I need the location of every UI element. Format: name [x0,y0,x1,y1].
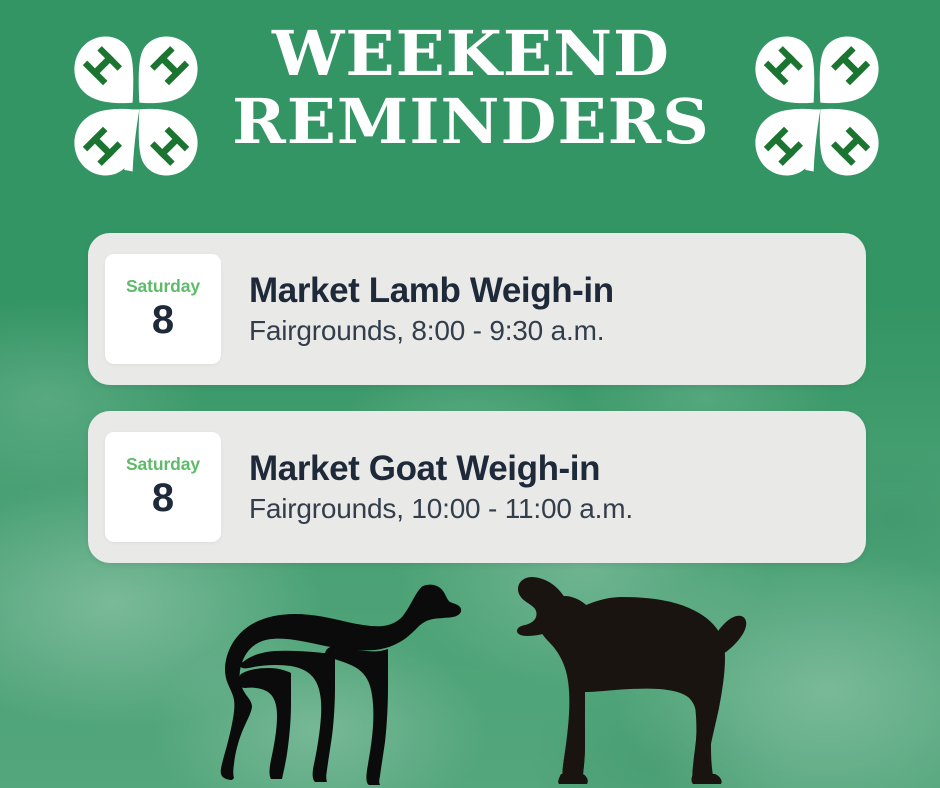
page-title: WEEKEND REMINDERS [228,20,714,156]
4-h-clover-logo-right [733,22,901,190]
4-h-clover-logo-left [52,22,220,190]
page-title-line-1: WEEKEND [218,20,723,88]
poster-header: WEEKEND REMINDERS [0,0,940,210]
event-text-block: Market Lamb Weigh-in Fairgrounds, 8:00 -… [221,270,866,349]
event-card[interactable]: Saturday 8 Market Goat Weigh-in Fairgrou… [88,411,866,563]
goat-silhouette [507,562,785,786]
event-card[interactable]: Saturday 8 Market Lamb Weigh-in Fairgrou… [88,233,866,385]
animal-silhouettes [0,556,940,788]
lamb-silhouette [215,574,463,786]
event-weekday: Saturday [126,454,200,474]
page-title-line-2: REMINDERS [218,88,723,156]
event-detail: Fairgrounds, 8:00 - 9:30 a.m. [249,313,846,349]
weekend-reminders-poster: WEEKEND REMINDERS [0,0,940,788]
event-title: Market Lamb Weigh-in [249,270,846,312]
event-date-box: Saturday 8 [105,432,221,542]
event-weekday: Saturday [126,276,200,296]
event-date-box: Saturday 8 [105,254,221,364]
event-day-number: 8 [152,476,174,520]
event-text-block: Market Goat Weigh-in Fairgrounds, 10:00 … [221,448,866,527]
event-day-number: 8 [152,298,174,342]
event-detail: Fairgrounds, 10:00 - 11:00 a.m. [249,491,846,527]
event-title: Market Goat Weigh-in [249,448,846,490]
